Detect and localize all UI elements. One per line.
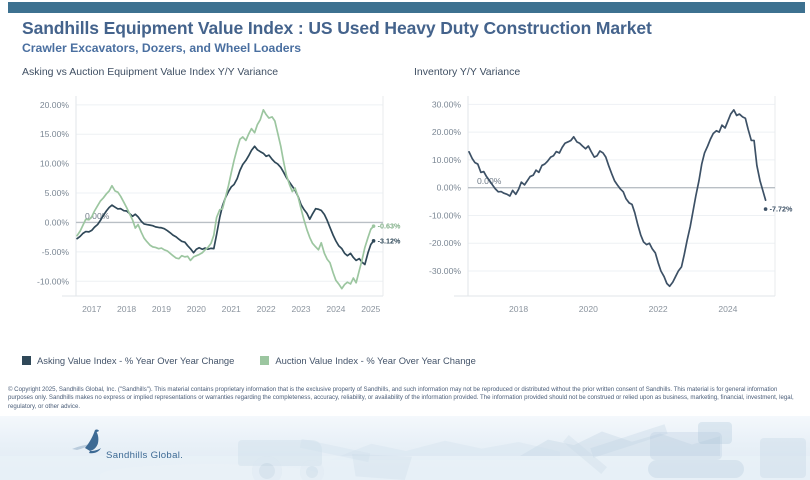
svg-text:2017: 2017 (82, 304, 101, 314)
svg-text:2020: 2020 (579, 304, 598, 314)
photo-excavator-track (648, 460, 744, 478)
left-chart-title: Asking vs Auction Equipment Value Index … (22, 66, 278, 78)
photo-loader-wheel-front (300, 460, 324, 480)
legend-label-auction: Auction Value Index - % Year Over Year C… (275, 355, 475, 366)
svg-text:0.00%: 0.00% (437, 183, 462, 193)
right-chart-panel: Inventory Y/Y Variance 30.00%20.00%10.00… (412, 66, 797, 341)
svg-text:2021: 2021 (222, 304, 241, 314)
svg-text:10.00%: 10.00% (40, 159, 70, 169)
svg-text:15.00%: 15.00% (40, 129, 70, 139)
svg-text:-7.72%: -7.72% (770, 205, 793, 214)
svg-text:-5.00%: -5.00% (42, 247, 70, 257)
right-chart-title: Inventory Y/Y Variance (414, 66, 520, 78)
slide-root: Sandhills Equipment Value Index : US Use… (0, 0, 810, 480)
header-accent-bar (8, 2, 805, 13)
svg-text:-10.00%: -10.00% (37, 276, 69, 286)
legend-swatch-auction (260, 356, 269, 365)
svg-text:20.00%: 20.00% (432, 127, 462, 137)
sandhills-global-logo[interactable]: Sandhills Global. (40, 428, 200, 472)
copyright-disclaimer: © Copyright 2025, Sandhills Global, Inc.… (8, 386, 798, 411)
svg-text:2019: 2019 (152, 304, 171, 314)
crane-bird-icon (70, 428, 110, 458)
svg-text:2018: 2018 (509, 304, 528, 314)
svg-text:-30.00%: -30.00% (429, 266, 461, 276)
inventory-variance-chart[interactable]: 30.00%20.00%10.00%0.00%-10.00%-20.00%-30… (412, 80, 797, 340)
legend-swatch-asking (22, 356, 31, 365)
asking-vs-auction-chart[interactable]: 20.00%15.00%10.00%5.00%0.00%-5.00%-10.00… (20, 80, 405, 340)
svg-text:2020: 2020 (187, 304, 206, 314)
svg-text:2024: 2024 (718, 304, 737, 314)
svg-text:2018: 2018 (117, 304, 136, 314)
chart-legend: Asking Value Index - % Year Over Year Ch… (22, 355, 476, 366)
svg-text:-20.00%: -20.00% (429, 238, 461, 248)
svg-text:-0.63%: -0.63% (378, 222, 401, 231)
svg-text:2022: 2022 (649, 304, 668, 314)
left-chart-panel: Asking vs Auction Equipment Value Index … (20, 66, 405, 341)
svg-text:0.00%: 0.00% (45, 217, 70, 227)
photo-excavator-secondary (760, 438, 806, 478)
page-title: Sandhills Equipment Value Index : US Use… (22, 18, 652, 39)
logo-wordmark: Sandhills Global. (106, 450, 183, 461)
legend-label-asking: Asking Value Index - % Year Over Year Ch… (37, 355, 234, 366)
svg-text:2024: 2024 (326, 304, 345, 314)
svg-text:20.00%: 20.00% (40, 100, 70, 110)
page-subtitle: Crawler Excavators, Dozers, and Wheel Lo… (22, 41, 301, 55)
legend-item-auction: Auction Value Index - % Year Over Year C… (260, 355, 475, 366)
svg-text:5.00%: 5.00% (45, 188, 70, 198)
svg-text:10.00%: 10.00% (432, 155, 462, 165)
photo-loader-bucket (352, 454, 412, 480)
legend-item-asking: Asking Value Index - % Year Over Year Ch… (22, 355, 234, 366)
svg-text:-3.12%: -3.12% (378, 236, 401, 245)
svg-text:30.00%: 30.00% (432, 99, 462, 109)
svg-text:-10.00%: -10.00% (429, 210, 461, 220)
svg-text:2025: 2025 (361, 304, 380, 314)
photo-loader-wheel-rear (252, 456, 282, 480)
svg-text:2023: 2023 (291, 304, 310, 314)
photo-excavator-cab (698, 422, 732, 444)
svg-text:2022: 2022 (257, 304, 276, 314)
